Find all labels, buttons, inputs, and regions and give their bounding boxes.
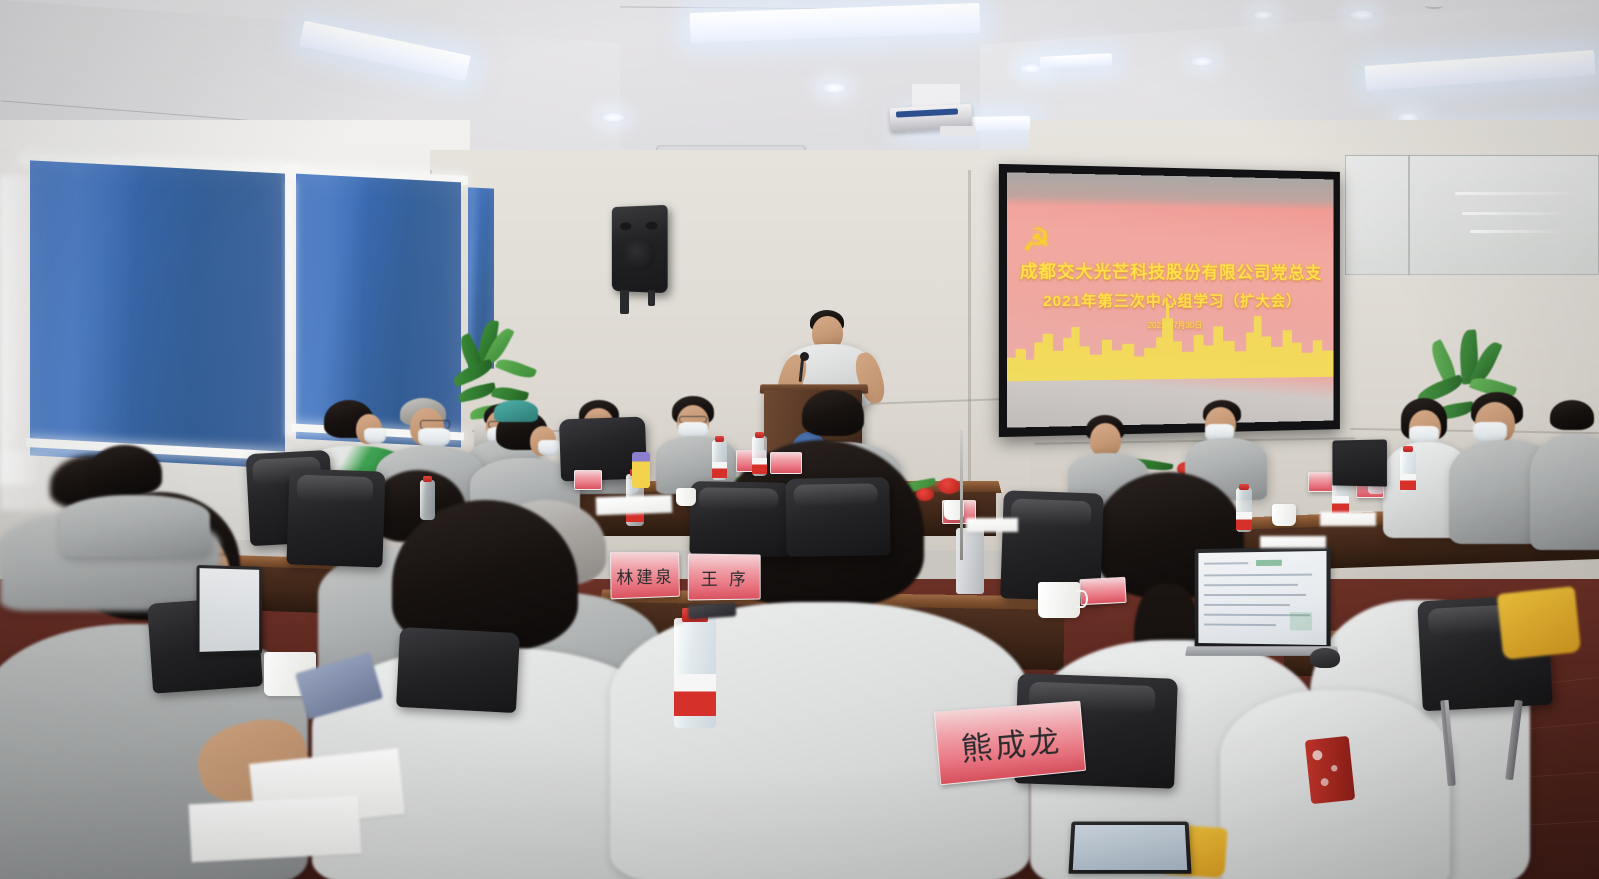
tablet-device[interactable]	[1068, 822, 1191, 874]
smoke-detector-icon	[1425, 0, 1443, 9]
office-chair[interactable]	[396, 627, 520, 713]
attendee	[488, 400, 550, 450]
downlight	[1189, 56, 1215, 67]
projection-screen: ☭ 成都交大光芒科技股份有限公司党总支 2021年第三次中心组学习（扩大会） 2…	[1007, 172, 1333, 427]
window-light	[286, 182, 298, 437]
conference-room-photo: ☭ 成都交大光芒科技股份有限公司党总支 2021年第三次中心组学习（扩大会） 2…	[0, 0, 1599, 879]
party-emblem-icon: ☭	[1022, 224, 1051, 256]
laptop[interactable]	[197, 565, 262, 655]
water-bottle	[712, 440, 727, 480]
mouse[interactable]	[1310, 648, 1340, 668]
nameplate-text: 熊成龙	[959, 716, 1064, 770]
handbag	[1497, 586, 1581, 660]
pa-speaker	[612, 205, 668, 293]
vacuum-flask	[632, 452, 650, 488]
downlight	[600, 112, 626, 123]
water-bottle	[752, 436, 767, 476]
projector-lens-housing	[940, 126, 976, 136]
nameplate-text: 王 序	[701, 564, 749, 589]
nameplate-text: 林建泉	[616, 562, 674, 588]
mic-stand	[960, 430, 963, 560]
microphone	[800, 352, 809, 361]
nameplate	[770, 452, 802, 474]
water-bottle	[1236, 488, 1252, 532]
office-chair[interactable]	[689, 481, 790, 557]
water-bottle	[420, 480, 435, 520]
paper-document	[596, 495, 673, 516]
speaker-bracket	[648, 290, 655, 306]
office-chair[interactable]	[785, 477, 890, 557]
nameplate: 林建泉	[610, 552, 680, 600]
slide-title: 成都交大光芒科技股份有限公司党总支	[1007, 257, 1333, 284]
window-blind[interactable]	[30, 160, 285, 468]
glass-reflection	[1462, 212, 1567, 215]
downlight	[1252, 10, 1274, 20]
paper-cup	[1272, 504, 1296, 526]
paper-document	[189, 796, 362, 863]
laptop[interactable]	[1332, 439, 1387, 486]
office-chair[interactable]	[286, 468, 385, 567]
glass-partition	[1345, 155, 1599, 275]
nameplate: 王 序	[688, 553, 761, 600]
speaker-bracket	[620, 290, 629, 314]
paper-cup	[676, 488, 696, 506]
attendee	[60, 445, 210, 555]
glass-reflection	[1470, 230, 1560, 233]
downlight	[1348, 9, 1376, 21]
water-bottle	[674, 618, 716, 728]
red-thermos	[1305, 736, 1355, 804]
nameplate	[574, 470, 602, 490]
glass-mullion	[1408, 155, 1410, 275]
paper-document	[966, 518, 1018, 532]
skyline-graphic	[1007, 295, 1333, 382]
downlight	[820, 82, 848, 94]
paper-document	[1320, 512, 1376, 526]
downlight	[1018, 63, 1044, 74]
paper-document	[1260, 536, 1326, 548]
attendee	[1540, 400, 1599, 550]
cup-handle	[1076, 590, 1088, 608]
glass-reflection	[1455, 192, 1575, 195]
laptop[interactable]	[1195, 547, 1331, 649]
coffee-cup	[1038, 582, 1080, 618]
screen-top-shade	[1007, 172, 1333, 210]
water-bottle	[1400, 450, 1416, 492]
nameplate: 熊成龙	[934, 701, 1086, 786]
